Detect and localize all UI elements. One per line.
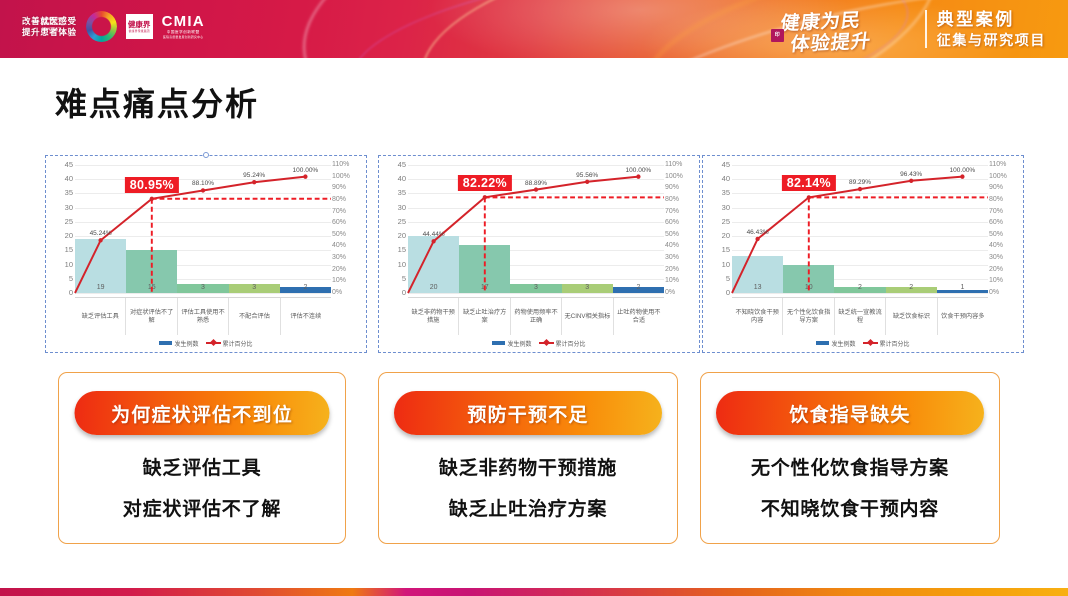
- issue-card-1-header-label: 为何症状评估不到位: [111, 400, 293, 427]
- issue-card-1-line-2: 对症状评估不了解: [123, 494, 281, 521]
- y-axis-right-tick: 60%: [989, 219, 1003, 227]
- line-marker: [98, 238, 102, 242]
- y-axis-left-tick: 25: [398, 218, 406, 226]
- gridline: [408, 293, 664, 294]
- issue-card-1-header: 为何症状评估不到位: [75, 391, 330, 435]
- pareto-chart-3[interactable]: 454035302520151050110%100%90%80%70%60%50…: [702, 155, 1024, 353]
- y-axis-left-tick: 30: [398, 204, 406, 212]
- banner-title-line-2: 征集与研究项目: [937, 32, 1046, 49]
- x-axis-category-label: 无CINV相关指标: [562, 298, 613, 335]
- cumulative-percent-label: 89.29%: [849, 179, 871, 186]
- y-axis-right-tick: 80%: [332, 196, 346, 204]
- legend-bar-swatch-icon: [159, 341, 172, 345]
- x-axis-category-label: 缺乏非药物干预措施: [408, 298, 459, 335]
- calligraphy-line-2: 体验提升: [789, 26, 873, 56]
- x-axis-category-label: 无个性化饮食指导方案: [783, 298, 834, 335]
- cumulative-percent-label: 88.89%: [525, 180, 547, 187]
- line-marker: [534, 187, 538, 191]
- y-axis-right-tick: 100%: [989, 173, 1007, 181]
- y-axis-right-tick: 30%: [665, 254, 679, 262]
- bottom-accent-strip: [0, 588, 1068, 596]
- seal-icon: 印: [771, 29, 784, 42]
- cumulative-percent-label: 95.24%: [243, 172, 265, 179]
- cmia-logo: CMIA 中国医学创新联盟 医院高质量发展创新研究中心: [162, 14, 205, 39]
- y-axis-left-tick: 20: [65, 232, 73, 240]
- issue-card-3-header-label: 饮食指导缺失: [789, 400, 910, 427]
- y-axis-left-tick: 5: [726, 275, 730, 283]
- x-axis: 缺乏非药物干预措施缺乏止吐治疗方案药物使用频率不正确无CINV相关指标止吐药物使…: [408, 297, 664, 335]
- issue-card-2-header-label: 预防干预不足: [467, 400, 588, 427]
- x-axis-category-label: 评估工具使用不熟悉: [178, 298, 229, 335]
- x-axis-category-label: 饮食干预内容多: [938, 298, 988, 335]
- plot-area: 201733244.44%88.89%95.56%100.00%82.22%: [408, 165, 664, 293]
- y-axis-right: 110%100%90%80%70%60%50%40%30%20%10%0%: [665, 165, 695, 293]
- pareto-chart-2[interactable]: 454035302520151050110%100%90%80%70%60%50…: [378, 155, 700, 353]
- line-marker: [483, 195, 487, 199]
- jiankangjie-sub: 健康界传媒集团: [129, 29, 150, 33]
- x-axis: 不知晓饮食干预内容无个性化饮食指导方案缺乏统一宣教流程缺乏饮食标识饮食干预内容多: [732, 297, 988, 335]
- issue-card-2[interactable]: 预防干预不足 缺乏非药物干预措施 缺乏止吐治疗方案: [378, 372, 678, 544]
- line-marker: [909, 179, 913, 183]
- y-axis-right-tick: 40%: [332, 242, 346, 250]
- issue-card-1-body: 缺乏评估工具 对症状评估不了解: [59, 453, 345, 521]
- y-axis-left-tick: 15: [398, 246, 406, 254]
- issue-card-3[interactable]: 饮食指导缺失 无个性化饮食指导方案 不知晓饮食干预内容: [700, 372, 1000, 544]
- chart-legend: 发生例数累计百分比: [382, 337, 696, 349]
- chart-legend: 发生例数累计百分比: [706, 337, 1020, 349]
- line-marker: [858, 187, 862, 191]
- cumulative-percent-label: 100.00%: [950, 167, 976, 174]
- y-axis-left-tick: 15: [722, 246, 730, 254]
- y-axis-left-tick: 45: [65, 161, 73, 169]
- y-axis-right-tick: 100%: [665, 173, 683, 181]
- x-axis-category-label: 止吐药物使用不合适: [614, 298, 664, 335]
- y-axis-right-tick: 50%: [989, 231, 1003, 239]
- y-axis-right-tick: 20%: [665, 266, 679, 274]
- y-axis-left-tick: 0: [69, 289, 73, 297]
- y-axis-left-tick: 5: [69, 275, 73, 283]
- chc-ring-icon: [86, 11, 117, 42]
- legend-bar-label: 发生例数: [174, 339, 198, 348]
- banner-title-group: 典型案例 征集与研究项目: [937, 10, 1046, 49]
- y-axis-right-tick: 0%: [332, 289, 342, 297]
- legend-line-swatch-icon: [863, 340, 878, 346]
- cumulative-percent-label: 96.43%: [900, 171, 922, 178]
- line-marker: [150, 197, 154, 201]
- y-axis-left-tick: 10: [722, 261, 730, 269]
- x-axis-category-label: 缺乏评估工具: [75, 298, 126, 335]
- jiankangjie-logo: 健康界 健康界传媒集团: [126, 14, 153, 39]
- issue-card-3-line-2: 不知晓饮食干预内容: [761, 494, 939, 521]
- x-axis-category-label: 不配合评估: [229, 298, 280, 335]
- line-marker: [303, 174, 307, 178]
- y-axis-right-tick: 40%: [665, 242, 679, 250]
- issue-card-2-header: 预防干预不足: [394, 391, 662, 435]
- cumulative-percent-label: 88.10%: [192, 180, 214, 187]
- issue-card-2-line-2: 缺乏止吐治疗方案: [449, 494, 607, 521]
- y-axis-right-tick: 110%: [332, 161, 349, 169]
- x-axis-category-label: 缺乏统一宣教流程: [835, 298, 886, 335]
- issue-card-3-header: 饮食指导缺失: [716, 391, 984, 435]
- legend-item-line[interactable]: 累计百分比: [539, 339, 586, 348]
- y-axis-right-tick: 50%: [665, 231, 679, 239]
- y-axis-right-tick: 90%: [989, 184, 1003, 192]
- cumulative-percent-label: 44.44%: [423, 231, 445, 238]
- legend-bar-swatch-icon: [816, 341, 829, 345]
- issue-card-3-line-1: 无个性化饮食指导方案: [751, 453, 949, 480]
- legend-line-label: 累计百分比: [223, 339, 253, 348]
- y-axis-right-tick: 100%: [332, 173, 350, 181]
- legend-item-bar[interactable]: 发生例数: [492, 339, 531, 348]
- x-axis-category-label: 缺乏饮食标识: [886, 298, 937, 335]
- x-axis-category-label: 评估不连续: [281, 298, 331, 335]
- y-axis-right-tick: 30%: [989, 254, 1003, 262]
- y-axis-right-tick: 30%: [332, 254, 346, 262]
- legend-item-line[interactable]: 累计百分比: [863, 339, 910, 348]
- y-axis-left-tick: 35: [398, 189, 406, 197]
- chc-ring-core-text: CHINESE HOSPITAL CONTEST: [40, 17, 62, 36]
- y-axis-left-tick: 35: [65, 189, 73, 197]
- issue-card-3-body: 无个性化饮食指导方案 不知晓饮食干预内容: [701, 453, 999, 521]
- plot-area: 131022146.43%89.29%96.43%100.00%82.14%: [732, 165, 988, 293]
- highlight-percent-badge: 82.14%: [782, 175, 836, 191]
- y-axis-right-tick: 90%: [665, 184, 679, 192]
- legend-line-swatch-icon: [539, 340, 554, 346]
- y-axis-right-tick: 90%: [332, 184, 346, 192]
- line-marker: [960, 174, 964, 178]
- y-axis-right-tick: 20%: [989, 266, 1003, 274]
- banner-title-line-1: 典型案例: [937, 10, 1046, 30]
- issue-card-2-line-1: 缺乏非药物干预措施: [439, 453, 617, 480]
- cumulative-percent-label: 45.24%: [90, 230, 112, 237]
- y-axis-left-tick: 40: [722, 175, 730, 183]
- legend-bar-label: 发生例数: [831, 339, 855, 348]
- y-axis-left-tick: 15: [65, 246, 73, 254]
- y-axis-left-tick: 30: [65, 204, 73, 212]
- y-axis-left-tick: 20: [398, 232, 406, 240]
- y-axis-left-tick: 10: [398, 261, 406, 269]
- page-title: 难点痛点分析: [55, 79, 259, 125]
- cumulative-percent-label: 100.00%: [626, 167, 652, 174]
- legend-item-line[interactable]: 累计百分比: [206, 339, 253, 348]
- y-axis-right: 110%100%90%80%70%60%50%40%30%20%10%0%: [989, 165, 1019, 293]
- y-axis-right-tick: 110%: [665, 161, 682, 169]
- y-axis-right-tick: 60%: [332, 219, 346, 227]
- y-axis-left-tick: 35: [722, 189, 730, 197]
- y-axis-left-tick: 20: [722, 232, 730, 240]
- y-axis-right-tick: 40%: [989, 242, 1003, 250]
- cards-row: 为何症状评估不到位 缺乏评估工具 对症状评估不了解 预防干预不足 缺乏非药物干预…: [0, 372, 1068, 550]
- legend-bar-swatch-icon: [492, 341, 505, 345]
- line-marker: [431, 239, 435, 243]
- y-axis-right-tick: 10%: [332, 277, 346, 285]
- y-axis-left-tick: 0: [726, 289, 730, 297]
- gridline: [75, 293, 331, 294]
- legend-item-bar[interactable]: 发生例数: [159, 339, 198, 348]
- y-axis-left-tick: 45: [722, 161, 730, 169]
- y-axis-right-tick: 70%: [989, 208, 1003, 216]
- y-axis-left-tick: 30: [722, 204, 730, 212]
- y-axis-left-tick: 25: [722, 218, 730, 226]
- y-axis-right-tick: 20%: [332, 266, 346, 274]
- legend-bar-label: 发生例数: [507, 339, 531, 348]
- y-axis-right-tick: 80%: [989, 196, 1003, 204]
- legend-item-bar[interactable]: 发生例数: [816, 339, 855, 348]
- calligraphy-block: 健康为民 印 体验提升: [765, 6, 915, 52]
- line-marker: [585, 180, 589, 184]
- y-axis-left-tick: 25: [65, 218, 73, 226]
- y-axis-left-tick: 40: [65, 175, 73, 183]
- legend-line-label: 累计百分比: [556, 339, 586, 348]
- jiankangjie-mark: 健康界: [128, 20, 151, 29]
- y-axis-right-tick: 70%: [332, 208, 346, 216]
- y-axis-right-tick: 60%: [665, 219, 679, 227]
- line-marker: [807, 195, 811, 199]
- y-axis-right-tick: 110%: [989, 161, 1006, 169]
- highlight-percent-badge: 80.95%: [125, 177, 179, 193]
- y-axis-right-tick: 0%: [665, 289, 675, 297]
- x-axis: 缺乏评估工具对症状评估不了解评估工具使用不熟悉不配合评估评估不连续: [75, 297, 331, 335]
- x-axis-category-label: 对症状评估不了解: [126, 298, 177, 335]
- y-axis-right: 110%100%90%80%70%60%50%40%30%20%10%0%: [332, 165, 362, 293]
- pareto-chart-1[interactable]: 454035302520151050110%100%90%80%70%60%50…: [45, 155, 367, 353]
- y-axis-right-tick: 50%: [332, 231, 346, 239]
- cumulative-percent-label: 95.56%: [576, 172, 598, 179]
- y-axis-right-tick: 10%: [989, 277, 1003, 285]
- y-axis-right-tick: 0%: [989, 289, 999, 297]
- resize-handle-top[interactable]: [203, 152, 209, 158]
- y-axis-left-tick: 45: [398, 161, 406, 169]
- issue-card-2-body: 缺乏非药物干预措施 缺乏止吐治疗方案: [379, 453, 677, 521]
- x-axis-category-label: 缺乏止吐治疗方案: [459, 298, 510, 335]
- x-axis-category-label: 药物使用频率不正确: [511, 298, 562, 335]
- legend-line-swatch-icon: [206, 340, 221, 346]
- issue-card-1[interactable]: 为何症状评估不到位 缺乏评估工具 对症状评估不了解: [58, 372, 346, 544]
- y-axis-left: 454035302520151050: [708, 165, 730, 293]
- charts-row: 454035302520151050110%100%90%80%70%60%50…: [0, 155, 1068, 355]
- banner-divider: [925, 10, 927, 48]
- y-axis-left-tick: 10: [65, 261, 73, 269]
- legend-line-label: 累计百分比: [880, 339, 910, 348]
- y-axis-right-tick: 10%: [665, 277, 679, 285]
- banner-right-group: 健康为民 印 体验提升 典型案例 征集与研究项目: [765, 6, 1046, 52]
- line-marker: [755, 237, 759, 241]
- issue-card-1-line-1: 缺乏评估工具: [143, 453, 262, 480]
- header-banner: 改善就医感受 提升患者体验 健康界 健康界传媒集团 CMIA 中国医学创新联盟 …: [0, 0, 1068, 58]
- line-marker: [252, 180, 256, 184]
- cumulative-percent-label: 100.00%: [293, 167, 319, 174]
- cmia-wordmark: CMIA: [162, 14, 205, 30]
- y-axis-left-tick: 0: [402, 289, 406, 297]
- highlight-percent-badge: 82.22%: [458, 175, 512, 191]
- plot-area: 191533245.24%88.10%95.24%100.00%80.95%: [75, 165, 331, 293]
- y-axis-left-tick: 40: [398, 175, 406, 183]
- y-axis-left: 454035302520151050: [51, 165, 73, 293]
- gridline: [732, 293, 988, 294]
- x-axis-category-label: 不知晓饮食干预内容: [732, 298, 783, 335]
- cumulative-percent-label: 46.43%: [747, 229, 769, 236]
- line-marker: [636, 174, 640, 178]
- y-axis-right-tick: 70%: [665, 208, 679, 216]
- line-marker: [201, 188, 205, 192]
- cmia-sub-2: 医院高质量发展创新研究中心: [163, 35, 203, 39]
- chart-legend: 发生例数累计百分比: [49, 337, 363, 349]
- y-axis-left: 454035302520151050: [384, 165, 406, 293]
- y-axis-right-tick: 80%: [665, 196, 679, 204]
- y-axis-left-tick: 5: [402, 275, 406, 283]
